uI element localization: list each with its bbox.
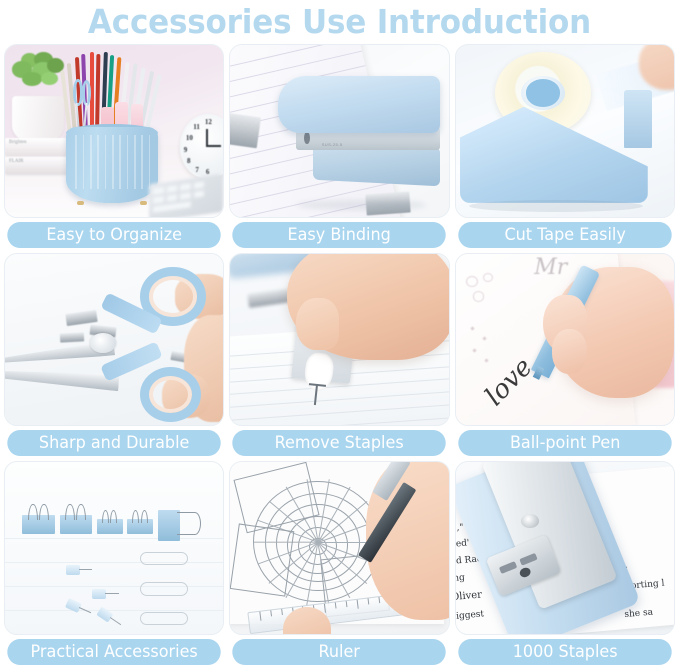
photo-cut-tape-easily[interactable] bbox=[455, 44, 675, 218]
decorative-script: Mr bbox=[534, 255, 567, 280]
binder-clip-2 bbox=[60, 504, 93, 535]
tape-cutter-blade bbox=[624, 90, 652, 148]
background-layer bbox=[5, 462, 223, 634]
dot-pattern bbox=[464, 322, 499, 370]
binder-clip-4 bbox=[127, 510, 153, 534]
binder-clip-5 bbox=[158, 507, 206, 541]
dispenser-shadow bbox=[469, 200, 644, 212]
caption-1000-staples[interactable]: 1000 Staples bbox=[458, 639, 672, 665]
binder-clip-3 bbox=[97, 510, 123, 534]
grid-cell-6[interactable]: Mr love Ba bbox=[455, 253, 675, 457]
scissor-ring-lower bbox=[140, 367, 201, 422]
stapler-top-body bbox=[278, 76, 440, 133]
binder-clip-1 bbox=[22, 504, 55, 535]
tape-core bbox=[526, 79, 561, 106]
clock-number-11: 11 bbox=[193, 123, 200, 131]
grid-cell-4[interactable]: Sharp and Durable bbox=[4, 253, 224, 457]
plant-pot bbox=[12, 96, 64, 141]
page-text-12: she sa bbox=[624, 608, 653, 620]
photo-easy-to-organize[interactable]: Brighten FLAIR bbox=[4, 44, 224, 218]
photo-ruler[interactable] bbox=[229, 461, 449, 635]
grid-cell-3[interactable]: Cut Tape Easily bbox=[455, 44, 675, 248]
book-label-2: FLAIR bbox=[5, 157, 68, 166]
book-stack-top: Brighten bbox=[5, 138, 70, 155]
grid-cell-8[interactable]: Ruler bbox=[229, 461, 449, 665]
image-grid: Brighten FLAIR bbox=[0, 44, 679, 670]
staple-strip-left bbox=[229, 113, 260, 148]
grid-cell-9[interactable]: t. his me," said S o-bed' man," said Rac… bbox=[455, 461, 675, 665]
grid-cell-7[interactable]: Practical Accessories bbox=[4, 461, 224, 665]
photo-sharp-and-durable[interactable] bbox=[4, 253, 224, 427]
caption-sharp-and-durable[interactable]: Sharp and Durable bbox=[7, 430, 221, 456]
paper-clip-1 bbox=[140, 552, 188, 566]
caption-cut-tape-easily[interactable]: Cut Tape Easily bbox=[458, 222, 672, 248]
photo-1000-staples[interactable]: t. his me," said S o-bed' man," said Rac… bbox=[455, 461, 675, 635]
photo-practical-accessories[interactable] bbox=[4, 461, 224, 635]
caption-easy-to-organize[interactable]: Easy to Organize bbox=[7, 222, 221, 248]
caption-remove-staples[interactable]: Remove Staples bbox=[233, 430, 447, 456]
clock-number-7: 7 bbox=[195, 166, 199, 174]
photo-ball-point-pen[interactable]: Mr love bbox=[455, 253, 675, 427]
grid-cell-5[interactable]: Remove Staples bbox=[229, 253, 449, 457]
caption-ruler[interactable]: Ruler bbox=[233, 639, 447, 665]
thumb bbox=[296, 298, 340, 350]
lace-pattern bbox=[460, 271, 517, 323]
holder-foot-left bbox=[77, 201, 83, 206]
paper-clip-3 bbox=[140, 612, 188, 626]
clock-number-9: 9 bbox=[184, 146, 188, 154]
book-label-1: Brighten bbox=[5, 138, 70, 147]
photo-remove-staples[interactable] bbox=[229, 253, 449, 427]
page-text-10: biggest bbox=[455, 610, 484, 623]
thumb bbox=[552, 329, 587, 374]
caption-practical-accessories[interactable]: Practical Accessories bbox=[7, 639, 221, 665]
holder-foot-right bbox=[140, 201, 146, 206]
clock-number-8: 8 bbox=[187, 157, 191, 165]
caption-easy-binding[interactable]: Easy Binding bbox=[233, 222, 447, 248]
pen-holder bbox=[66, 127, 158, 203]
caption-ball-point-pen[interactable]: Ball-point Pen bbox=[458, 430, 672, 456]
photo-easy-binding[interactable]: SUS-25-5 bbox=[229, 44, 449, 218]
push-pin-2 bbox=[92, 586, 118, 601]
grid-cell-2[interactable]: SUS-25-5 Easy Binding bbox=[229, 44, 449, 248]
page-text-6: ning bbox=[455, 573, 465, 585]
grid-cell-1[interactable]: Brighten FLAIR bbox=[4, 44, 224, 248]
push-pin-1 bbox=[66, 562, 92, 577]
staple-3 bbox=[59, 332, 83, 342]
book-stack-bottom: FLAIR bbox=[5, 157, 68, 174]
page-title: Accessories Use Introduction bbox=[20, 0, 658, 44]
stapler-model-label: SUS-25-5 bbox=[322, 133, 343, 151]
page-text-7: Oliver bbox=[455, 589, 482, 603]
hinge-pin bbox=[521, 514, 538, 528]
clock-number-12: 12 bbox=[205, 118, 212, 126]
stapler-shadow bbox=[296, 200, 427, 210]
page-root: Accessories Use Introduction bbox=[0, 0, 679, 670]
clock-number-10: 10 bbox=[186, 134, 193, 142]
paper-clip-2 bbox=[140, 582, 188, 596]
